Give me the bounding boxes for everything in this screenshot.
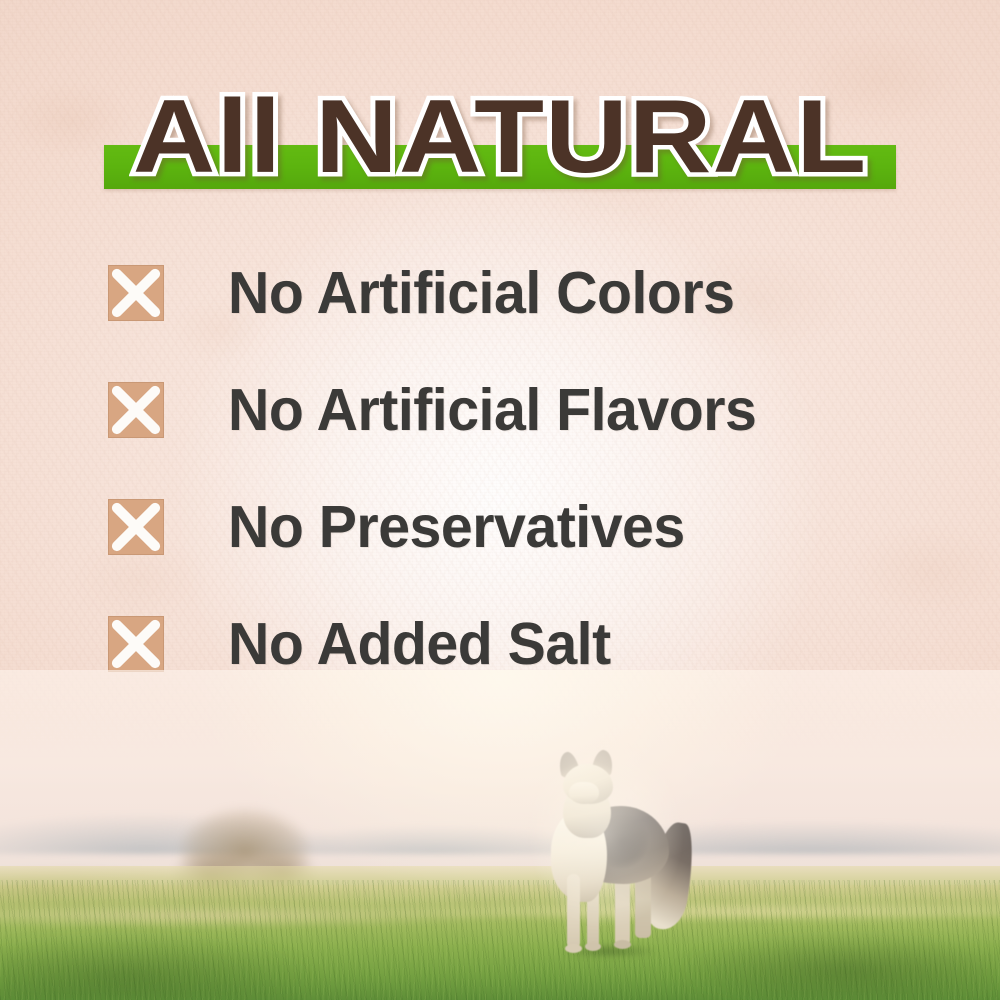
x-mark-icon (108, 265, 164, 321)
dog-front-leg-near (567, 874, 580, 948)
claim-item: No Artificial Colors (108, 265, 968, 382)
x-mark-icon (108, 382, 164, 438)
claim-checkbox (108, 265, 164, 321)
banner-title: All NATURAL (0, 74, 1000, 200)
dog-muzzle (569, 782, 599, 804)
all-natural-product-graphic: All NATURAL No Artificial Colors No Arti… (0, 0, 1000, 1000)
dog-paw (614, 940, 631, 949)
claim-checkbox (108, 499, 164, 555)
claim-label: No Artificial Colors (228, 257, 734, 329)
claim-checkbox (108, 616, 164, 672)
claim-item: No Preservatives (108, 499, 968, 616)
claim-label: No Artificial Flavors (228, 374, 756, 446)
landscape-photo (0, 670, 1000, 1000)
claim-checkbox (108, 382, 164, 438)
banner: All NATURAL (0, 74, 1000, 200)
x-mark-icon (108, 499, 164, 555)
dog-border-collie (537, 748, 687, 958)
x-mark-icon (108, 616, 164, 672)
dog-paw (585, 942, 601, 951)
dog-ground-shadow (543, 942, 675, 960)
photo-shadow-left (0, 920, 420, 1000)
claim-item: No Artificial Flavors (108, 382, 968, 499)
dog-paw (565, 944, 582, 953)
claim-label: No Preservatives (228, 491, 685, 563)
claims-list: No Artificial Colors No Artificial Flavo… (108, 265, 968, 733)
